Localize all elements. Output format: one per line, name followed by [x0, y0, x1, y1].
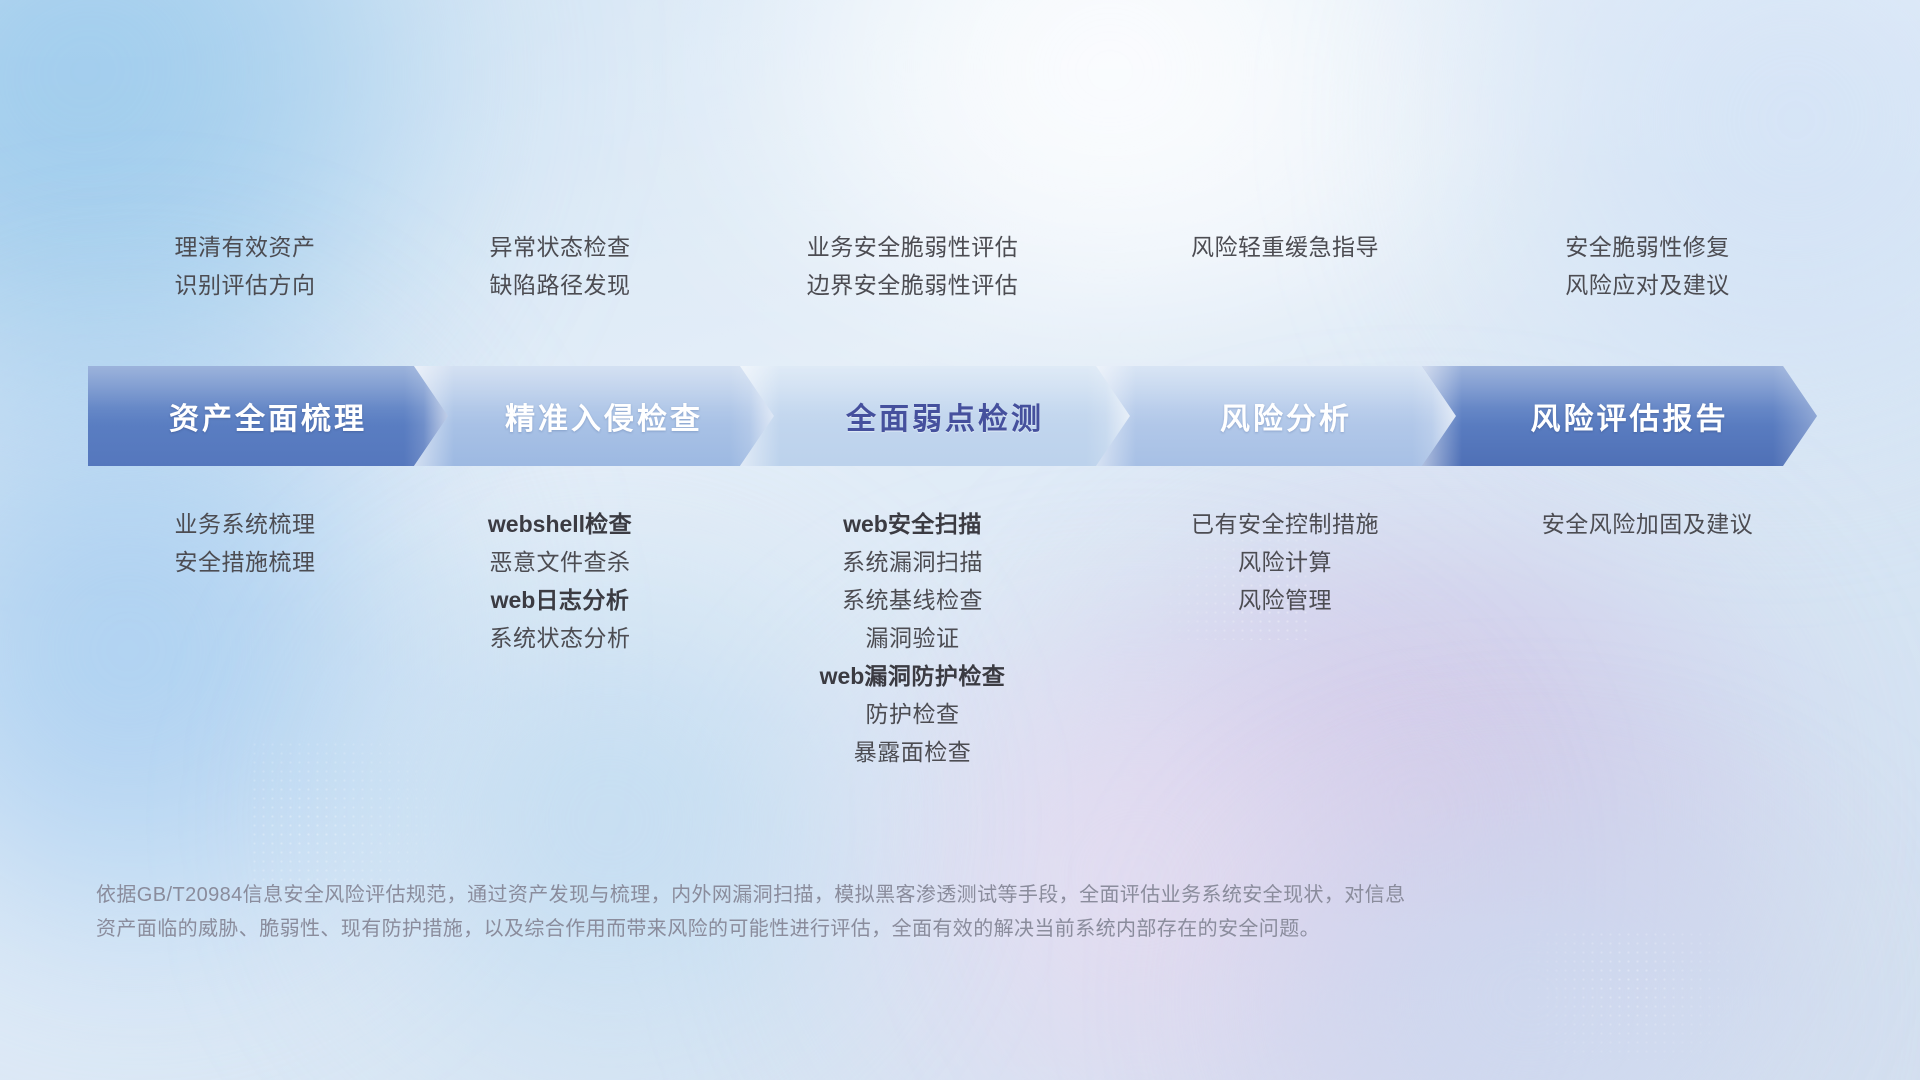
note-item: 已有安全控制措施 — [1191, 505, 1379, 543]
bottom-notes-risk-analysis: 已有安全控制措施 风险计算 风险管理 — [1100, 505, 1470, 619]
stage-label: 风险分析 — [1220, 394, 1352, 438]
top-notes-risk-analysis: 风险轻重缓急指导 — [1100, 228, 1470, 266]
note-item: 异常状态检查 — [490, 228, 631, 266]
latin-run: web — [491, 587, 536, 613]
note-item: 风险管理 — [1238, 581, 1332, 619]
top-notes-asset-inventory: 理清有效资产 识别评估方向 — [95, 228, 395, 304]
stage-chevron-intrusion-check[interactable]: 精准入侵检查 — [414, 366, 774, 466]
note-item: 边界安全脆弱性评估 — [807, 266, 1019, 304]
top-notes-intrusion-check: 异常状态检查 缺陷路径发现 — [395, 228, 725, 304]
note-item: web漏洞防护检查 — [820, 657, 1006, 695]
bottom-notes-weakness-detection: web安全扫描 系统漏洞扫描 系统基线检查 漏洞验证 web漏洞防护检查 防护检… — [725, 505, 1100, 771]
bottom-notes-row: 业务系统梳理 安全措施梳理 webshell检查 恶意文件查杀 web日志分析 … — [95, 505, 1825, 771]
note-item: 识别评估方向 — [175, 266, 316, 304]
stage-chevron-risk-report[interactable]: 风险评估报告 — [1422, 366, 1817, 466]
bottom-notes-asset-inventory: 业务系统梳理 安全措施梳理 — [95, 505, 395, 581]
note-item: 缺陷路径发现 — [490, 266, 631, 304]
note-item: webshell检查 — [488, 505, 632, 543]
note-item: 风险应对及建议 — [1565, 266, 1730, 304]
stage-label: 精准入侵检查 — [505, 394, 703, 438]
note-item: 暴露面检查 — [854, 733, 972, 771]
note-item: 业务系统梳理 — [175, 505, 316, 543]
note-item: 风险轻重缓急指导 — [1191, 228, 1379, 266]
stage-chevron-weakness-detection[interactable]: 全面弱点检测 — [740, 366, 1130, 466]
top-notes-row: 理清有效资产 识别评估方向 异常状态检查 缺陷路径发现 业务安全脆弱性评估 边界… — [95, 228, 1825, 304]
stage-chevron-band: 资产全面梳理 精准入侵检查 全面弱点检测 风险分析 风 — [88, 366, 1833, 466]
note-item: 恶意文件查杀 — [490, 543, 631, 581]
chevron-tip-highlight — [1773, 366, 1817, 466]
latin-run: webshell — [488, 511, 585, 537]
note-item: 系统基线检查 — [842, 581, 983, 619]
note-item: 漏洞验证 — [866, 619, 960, 657]
stage-label: 风险评估报告 — [1531, 394, 1729, 438]
stage-chevron-risk-analysis[interactable]: 风险分析 — [1096, 366, 1456, 466]
footer-line-1: 依据GB/T20984信息安全风险评估规范，通过资产发现与梳理，内外网漏洞扫描，… — [96, 878, 1736, 912]
note-item: 理清有效资产 — [175, 228, 316, 266]
top-notes-risk-report: 安全脆弱性修复 风险应对及建议 — [1470, 228, 1825, 304]
note-item: 安全风险加固及建议 — [1542, 505, 1754, 543]
latin-run: web — [820, 663, 865, 689]
stage-label: 资产全面梳理 — [169, 394, 367, 438]
note-item: 安全脆弱性修复 — [1565, 228, 1730, 266]
process-diagram: 理清有效资产 识别评估方向 异常状态检查 缺陷路径发现 业务安全脆弱性评估 边界… — [0, 0, 1920, 1080]
note-item: 系统状态分析 — [490, 619, 631, 657]
footer-description: 依据GB/T20984信息安全风险评估规范，通过资产发现与梳理，内外网漏洞扫描，… — [96, 878, 1736, 946]
stage-chevron-asset-inventory[interactable]: 资产全面梳理 — [88, 366, 448, 466]
note-item: 安全措施梳理 — [175, 543, 316, 581]
note-item: web安全扫描 — [843, 505, 982, 543]
note-item: 业务安全脆弱性评估 — [807, 228, 1019, 266]
bottom-notes-risk-report: 安全风险加固及建议 — [1470, 505, 1825, 543]
top-notes-weakness-detection: 业务安全脆弱性评估 边界安全脆弱性评估 — [725, 228, 1100, 304]
footer-line-2: 资产面临的威胁、脆弱性、现有防护措施，以及综合作用而带来风险的可能性进行评估，全… — [96, 912, 1736, 946]
note-item: 风险计算 — [1238, 543, 1332, 581]
note-item: web日志分析 — [491, 581, 630, 619]
latin-run: web — [843, 511, 888, 537]
stage-label: 全面弱点检测 — [846, 394, 1044, 438]
bottom-notes-intrusion-check: webshell检查 恶意文件查杀 web日志分析 系统状态分析 — [395, 505, 725, 657]
note-item: 系统漏洞扫描 — [842, 543, 983, 581]
note-item: 防护检查 — [866, 695, 960, 733]
